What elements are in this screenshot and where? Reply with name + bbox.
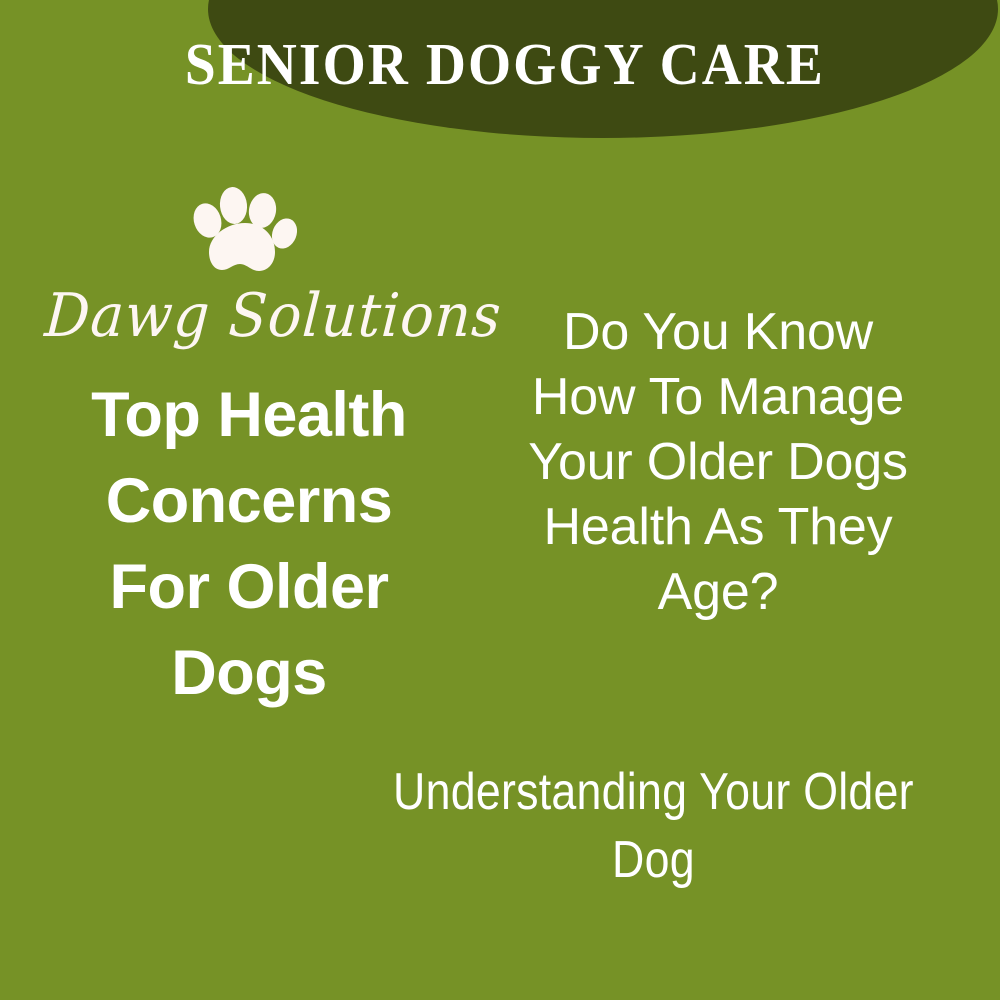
caption-block: Understanding Your Older Dog bbox=[260, 758, 1000, 894]
caption-line: Understanding Your Older bbox=[260, 758, 1000, 826]
poster-canvas: SENIOR DOGGY CARE Dawg Solutions Top Hea… bbox=[0, 0, 1000, 1000]
question-line: How To Manage bbox=[500, 365, 936, 430]
question-line: Do You Know bbox=[500, 300, 936, 365]
header-banner-title: SENIOR DOGGY CARE bbox=[35, 28, 975, 100]
headline-block: Top Health Concerns For Older Dogs bbox=[18, 372, 480, 716]
question-line: Your Older Dogs bbox=[500, 430, 936, 495]
headline-line: For Older bbox=[18, 544, 480, 630]
brand-name: Dawg Solutions bbox=[43, 283, 447, 349]
question-line: Age? bbox=[500, 560, 936, 625]
paw-print-icon bbox=[193, 185, 297, 277]
caption-line: Dog bbox=[260, 826, 1000, 894]
brand-block: Dawg Solutions bbox=[30, 185, 460, 349]
headline-line: Dogs bbox=[18, 630, 480, 716]
headline-line: Concerns bbox=[18, 458, 480, 544]
question-line: Health As They bbox=[500, 495, 936, 560]
question-block: Do You Know How To Manage Your Older Dog… bbox=[500, 300, 936, 625]
headline-line: Top Health bbox=[18, 372, 480, 458]
